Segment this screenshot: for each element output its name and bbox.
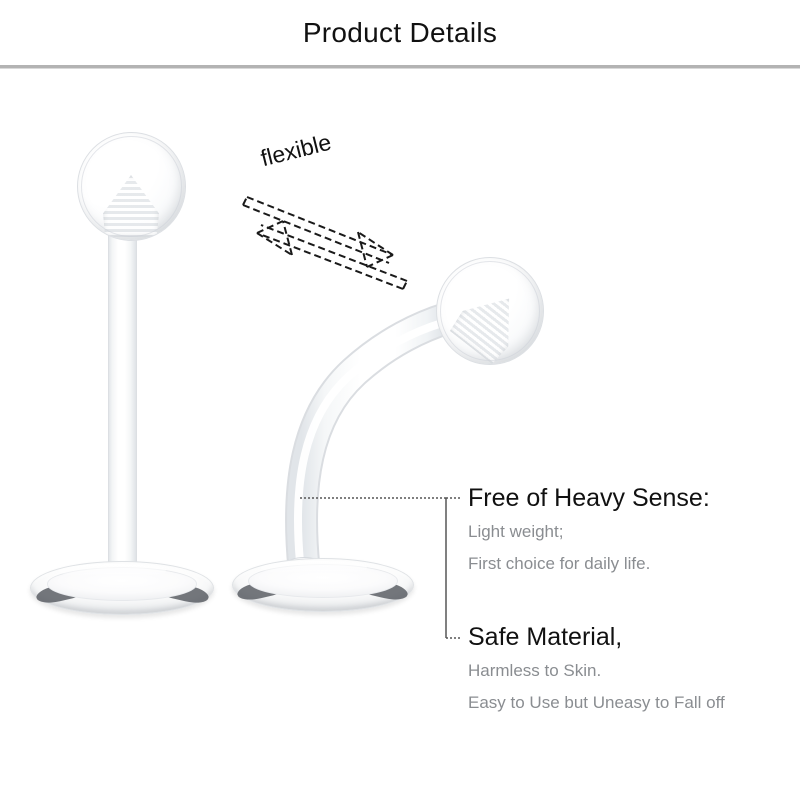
callout-line-first-choice: First choice for daily life. bbox=[468, 553, 650, 575]
callout-title-safe-material: Safe Material, bbox=[468, 622, 622, 652]
callout-title-free-of-heavy-sense: Free of Heavy Sense: bbox=[468, 483, 710, 513]
callout-line-light-weight: Light weight; bbox=[468, 521, 563, 543]
callout-line-harmless-to-skin: Harmless to Skin. bbox=[468, 660, 601, 682]
callout-leader-lines bbox=[0, 0, 800, 800]
product-details-page: Product Details bbox=[0, 0, 800, 800]
callout-line-easy-to-use: Easy to Use but Uneasy to Fall off bbox=[468, 692, 725, 714]
